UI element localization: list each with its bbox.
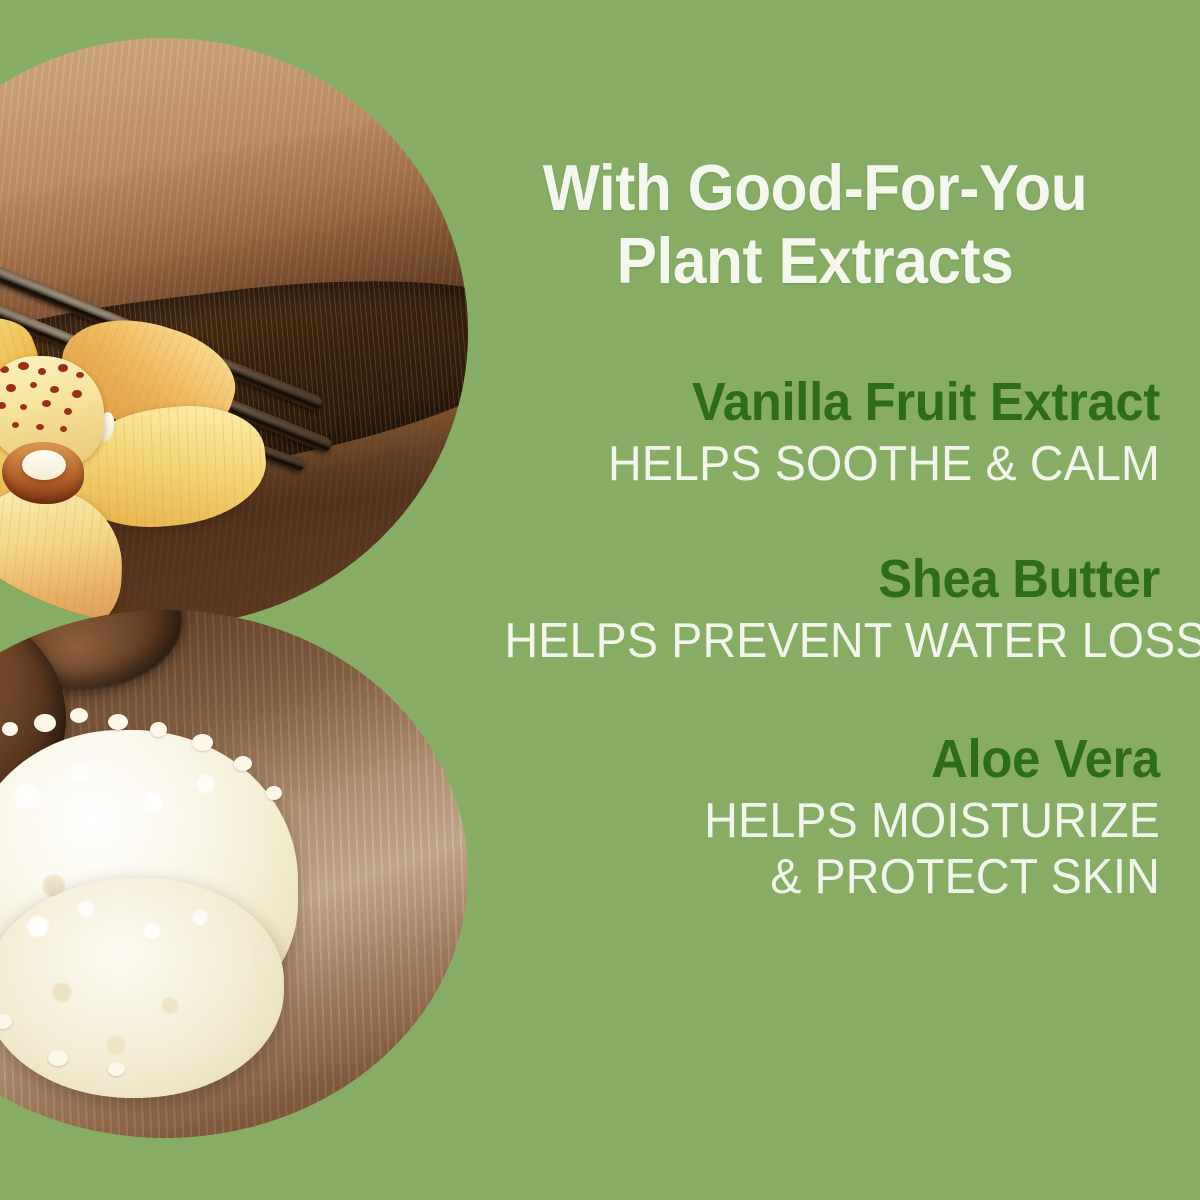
benefit-line: HELPS SOOTHE & CALM (505, 437, 1161, 493)
shea-butter-mass (0, 878, 284, 1098)
benefit-line: HELPS PREVENT WATER LOSS (505, 614, 1161, 670)
page-title: With Good-For-You Plant Extracts (494, 152, 1136, 298)
headline-line-2: Plant Extracts (494, 225, 1136, 298)
orchid-column (22, 450, 66, 480)
ingredient-benefit: HELPS SOOTHE & CALM (505, 437, 1161, 493)
ingredient-name: Vanilla Fruit Extract (511, 373, 1160, 431)
benefits-text-column: With Good-For-You Plant Extracts Vanilla… (470, 0, 1160, 1200)
ingredient-name: Shea Butter (511, 550, 1160, 608)
ingredient-block-aloe: Aloe Vera HELPS MOISTURIZE & PROTECT SKI… (470, 730, 1160, 906)
headline-line-1: With Good-For-You (494, 152, 1136, 225)
benefit-line: & PROTECT SKIN (505, 850, 1161, 906)
product-benefits-panel: With Good-For-You Plant Extracts Vanilla… (0, 0, 1200, 1200)
ingredient-block-shea: Shea Butter HELPS PREVENT WATER LOSS (470, 550, 1160, 670)
orchid-flower (0, 338, 270, 626)
ingredient-benefit: HELPS MOISTURIZE & PROTECT SKIN (505, 794, 1161, 906)
vanilla-extract-photo (0, 38, 468, 626)
ingredient-block-vanilla: Vanilla Fruit Extract HELPS SOOTHE & CAL… (470, 373, 1160, 493)
ingredient-benefit: HELPS PREVENT WATER LOSS (505, 614, 1161, 670)
shea-butter-photo (0, 610, 468, 1138)
ingredient-name: Aloe Vera (511, 730, 1160, 788)
benefit-line: HELPS MOISTURIZE (505, 794, 1161, 850)
